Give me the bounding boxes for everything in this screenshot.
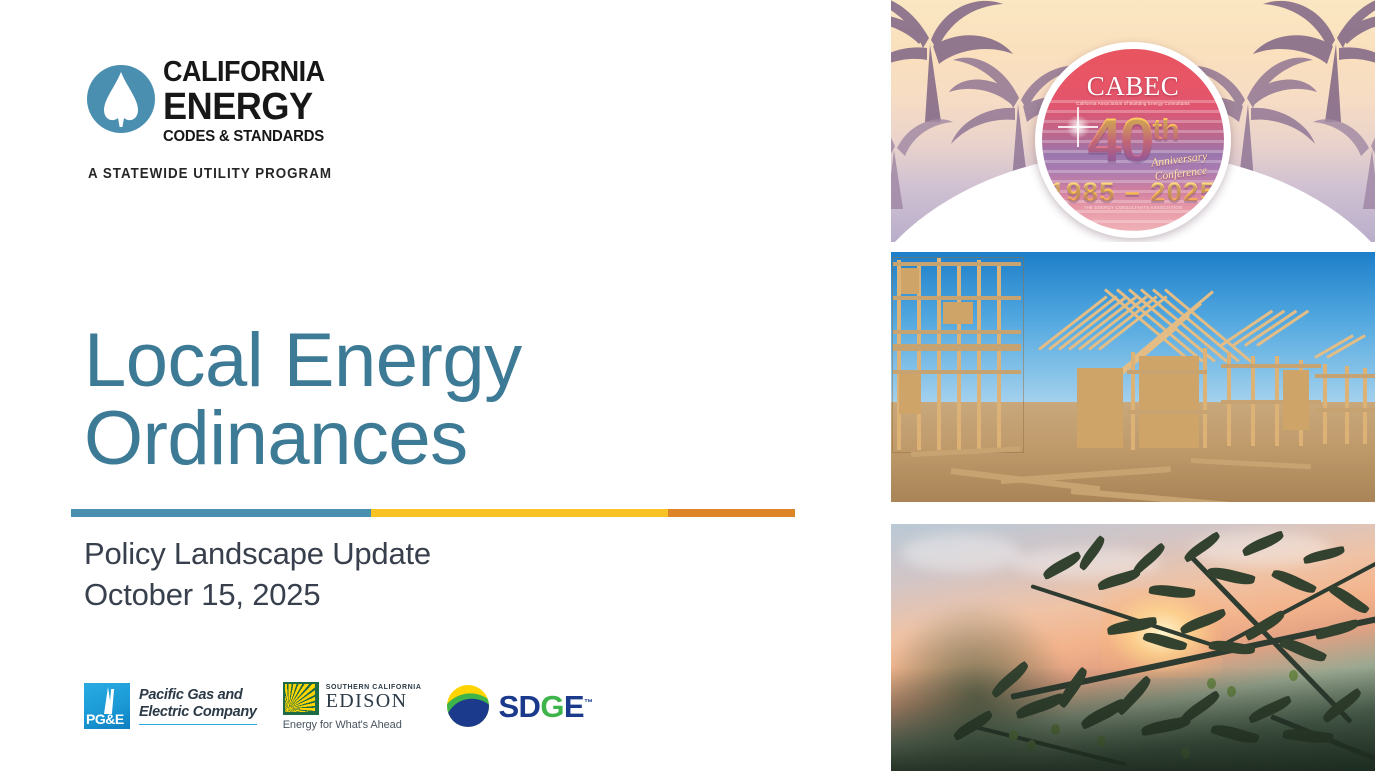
sdge-name-e: E [564, 689, 584, 724]
leaf-droplet-icon [85, 63, 157, 135]
olive-branches-sunset-photo [891, 524, 1375, 771]
subtitle-date: October 15, 2025 [84, 574, 784, 615]
presentation-slide: CALIFORNIA ENERGY CODES & STANDARDS A ST… [0, 0, 1375, 771]
pge-logo: PG&E Pacific Gas and Electric Company [84, 683, 257, 729]
cabec-org-name: CABEC [1042, 71, 1224, 102]
subtitle-block: Policy Landscape Update October 15, 2025 [84, 533, 784, 615]
subtitle-description: Policy Landscape Update [84, 533, 784, 574]
southern-california-edison-logo: SOUTHERN CALIFORNIA EDISON Energy for Wh… [283, 681, 422, 731]
pge-wordmark: Pacific Gas and Electric Company [139, 683, 257, 729]
pge-mark-label: PG&E [86, 711, 124, 727]
divider-segment-yellow [371, 509, 668, 517]
sdge-logo: SDGE™ [447, 683, 592, 729]
edison-sunburst-icon [283, 682, 319, 715]
slide-content-panel: CALIFORNIA ENERGY CODES & STANDARDS A ST… [0, 0, 891, 771]
title-block: Local Energy Ordinances [84, 322, 844, 479]
cabec-year-range: 1985 – 2025 [1042, 177, 1224, 208]
divider-segment-blue [71, 509, 371, 517]
logo-wordmark: CALIFORNIA ENERGY CODES & STANDARDS [163, 58, 378, 146]
edison-name: EDISON [326, 691, 422, 712]
cabec-conference-banner: CABEC California Association of Building… [891, 0, 1375, 242]
sdge-name-g: G [540, 689, 564, 724]
sdge-wordmark: SDGE™ [498, 691, 592, 722]
sdge-swoosh-icon [447, 685, 489, 727]
pge-tower-icon: PG&E [84, 683, 130, 729]
sdge-name-sd: SD [498, 689, 540, 724]
cabec-milestone-number: 40 [1087, 106, 1152, 175]
tricolor-divider [71, 509, 795, 517]
logo-line-energy: ENERGY [163, 88, 367, 126]
california-energy-codes-standards-logo: CALIFORNIA ENERGY CODES & STANDARDS A ST… [85, 58, 385, 188]
edison-tagline: Energy for What's Ahead [283, 719, 422, 731]
sponsor-utility-logos: PG&E Pacific Gas and Electric Company SO… [84, 678, 592, 734]
cabec-40th-anniversary-badge: CABEC California Association of Building… [1035, 42, 1231, 238]
pge-underline [139, 724, 257, 726]
sdge-trademark: ™ [584, 697, 592, 707]
page-title: Local Energy Ordinances [84, 322, 844, 479]
pge-name-line1: Pacific Gas and [139, 687, 257, 704]
photo-vignette [891, 667, 1375, 771]
cabec-milestone-suffix: th [1152, 113, 1178, 146]
logo-line-california: CALIFORNIA [163, 58, 363, 87]
pge-name-line2: Electric Company [139, 704, 257, 721]
residential-framing-construction-photo [891, 252, 1375, 502]
cabec-badge-footer: THE ENERGY CONSULTANTS ASSOCIATION [1042, 205, 1224, 210]
divider-segment-orange [668, 509, 795, 517]
logo-tagline: A STATEWIDE UTILITY PROGRAM [88, 166, 332, 182]
logo-line-codes-standards: CODES & STANDARDS [163, 128, 369, 146]
slide-image-column: CABEC California Association of Building… [891, 0, 1375, 771]
